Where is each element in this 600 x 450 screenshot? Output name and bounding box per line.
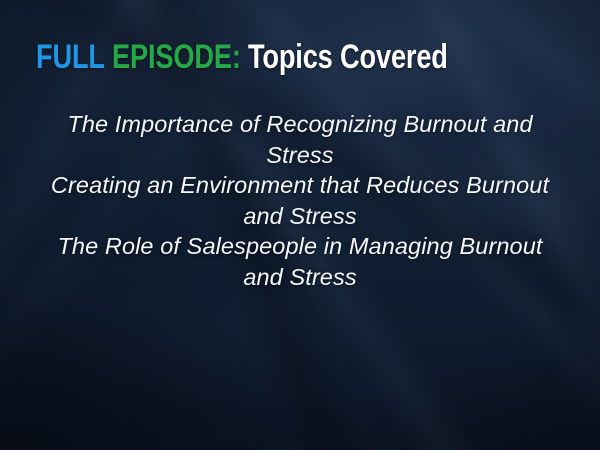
topics-list: The Importance of Recognizing Burnout an… [0, 109, 600, 292]
presentation-slide: FULLEPISODE:Topics Covered The Importanc… [0, 0, 600, 450]
title-segment-episode: EPISODE: [112, 38, 241, 76]
topic-item: Creating an Environment that Reduces Bur… [50, 170, 550, 231]
topic-item: The Role of Salespeople in Managing Burn… [50, 231, 550, 292]
slide-title: FULLEPISODE:Topics Covered [36, 39, 448, 75]
topic-item: The Importance of Recognizing Burnout an… [50, 109, 550, 170]
title-segment-topics-covered: Topics Covered [248, 38, 448, 76]
title-segment-full: FULL [36, 38, 105, 76]
